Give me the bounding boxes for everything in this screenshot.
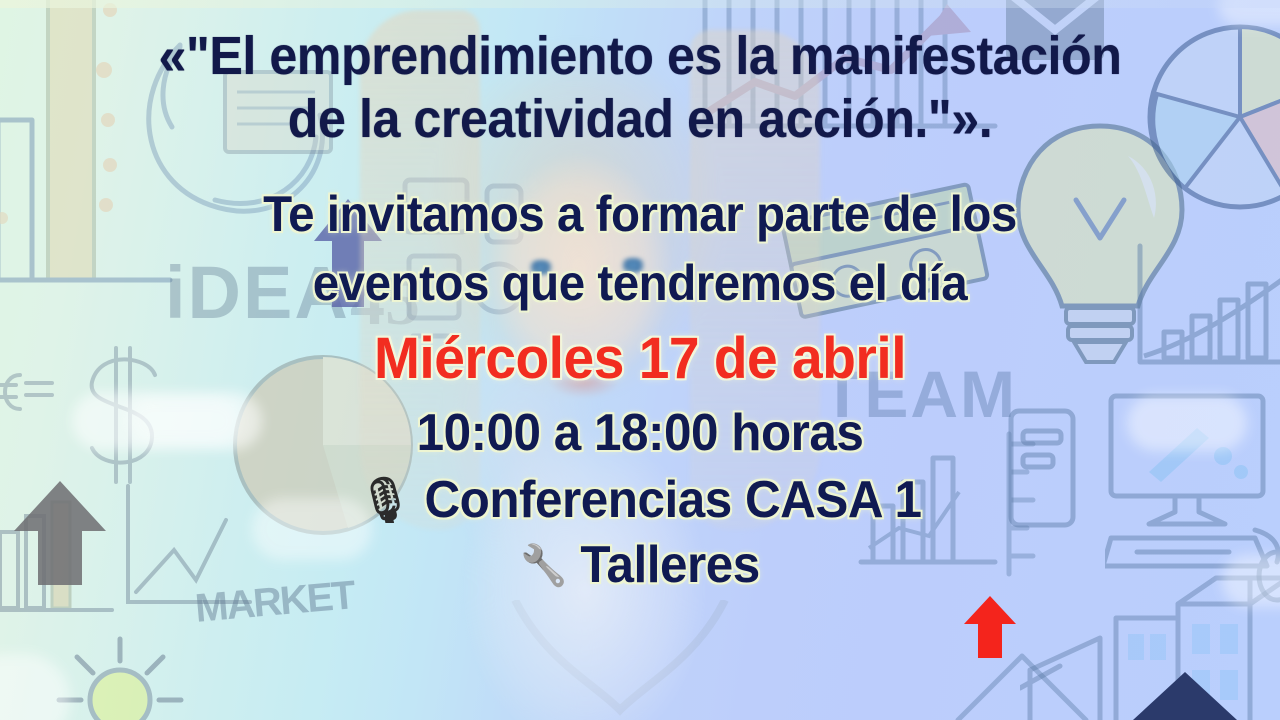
microphone-icon: 🎙 bbox=[359, 479, 412, 523]
wrench-icon: 🔧 bbox=[520, 546, 567, 586]
event-date: Miércoles 17 de abril bbox=[118, 328, 1163, 389]
quote-line-2: de la creatividad en acción."». bbox=[129, 91, 1152, 148]
workshop-label: Talleres bbox=[580, 538, 759, 593]
invite-line-1: Te invitamos a formar parte de los bbox=[263, 186, 1017, 242]
event-time: 10:00 a 18:00 horas bbox=[118, 406, 1163, 461]
event-poster: iDEA 45 bbox=[0, 0, 1280, 720]
workshop-row: 🔧 Talleres bbox=[118, 538, 1163, 593]
venue-label: Conferencias CASA 1 bbox=[424, 473, 921, 528]
venue-row: 🎙 Conferencias CASA 1 bbox=[118, 473, 1163, 528]
quote-block: «"El emprendimiento es la manifestación … bbox=[129, 28, 1152, 148]
quote-line-1: «"El emprendimiento es la manifestación bbox=[159, 26, 1122, 86]
invite-line-2: eventos que tendremos el día bbox=[118, 257, 1163, 310]
poster-text-content: «"El emprendimiento es la manifestación … bbox=[0, 0, 1280, 720]
invitation-block: Te invitamos a formar parte de los event… bbox=[118, 188, 1163, 310]
